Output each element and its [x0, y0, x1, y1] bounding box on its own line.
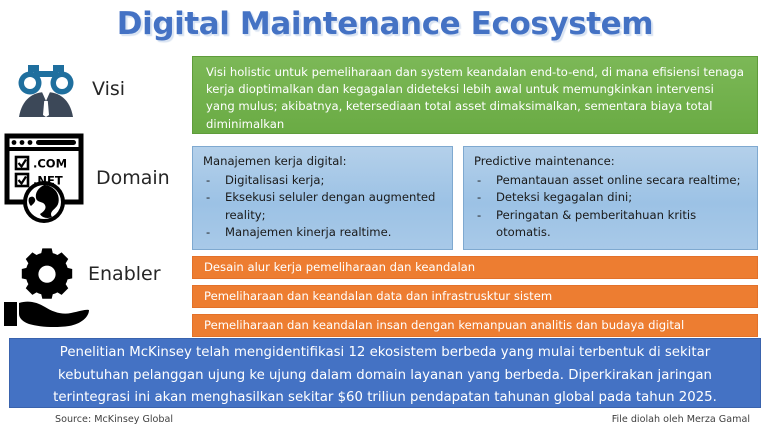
domain-heading: Manajemen kerja digital: — [203, 153, 444, 171]
domain-heading: Predictive maintenance: — [474, 153, 749, 171]
category-label-enabler: Enabler — [88, 263, 161, 285]
domain-box-predictive-maintenance: Predictive maintenance: Pemantauan asset… — [463, 146, 758, 250]
list-item: Manajemen kinerja realtime. — [203, 224, 444, 242]
category-label-domain: Domain — [96, 167, 170, 189]
category-row-domain: .COM .NET Domain — [0, 128, 190, 228]
enabler-bar: Desain alur kerja pemeliharaan dan keand… — [192, 256, 758, 279]
gear-in-hand-icon — [0, 240, 92, 332]
domain-item-list: Digitalisasi kerja; Eksekusi seluler den… — [203, 172, 444, 242]
category-row-visi: Visi — [0, 58, 190, 120]
svg-text:.COM: .COM — [33, 157, 67, 171]
list-item: Eksekusi seluler dengan augmented realit… — [203, 189, 444, 224]
credits-bar: Source: McKinsey Global File diolah oleh… — [0, 414, 770, 436]
category-label-visi: Visi — [92, 78, 125, 100]
author-credit: File diolah oleh Merza Gamal — [612, 414, 750, 425]
vision-box: Visi holistic untuk pemeliharaan dan sys… — [192, 56, 758, 134]
source-credit: Source: McKinsey Global — [55, 414, 173, 425]
enabler-bar: Pemeliharaan dan keandalan insan dengan … — [192, 314, 758, 337]
page-title: Digital Maintenance Ecosystem — [0, 6, 770, 42]
list-item: Deteksi kegagalan dini; — [474, 189, 749, 207]
vision-text: Visi holistic untuk pemeliharaan dan sys… — [206, 65, 744, 131]
category-row-enabler: Enabler — [0, 236, 190, 336]
footer-note: Penelitian McKinsey telah mengidentifika… — [9, 338, 761, 408]
browser-globe-domain-icon: .COM .NET — [0, 130, 92, 226]
domain-item-list: Pemantauan asset online secara realtime;… — [474, 172, 749, 242]
slide-canvas: Digital Maintenance Ecosystem — [0, 0, 770, 440]
list-item: Digitalisasi kerja; — [203, 172, 444, 190]
domain-box-digital-work-management: Manajemen kerja digital: Digitalisasi ke… — [192, 146, 453, 250]
enabler-bar: Pemeliharaan dan keandalan data dan infr… — [192, 285, 758, 308]
binoculars-businessman-icon — [0, 59, 92, 119]
list-item: Pemantauan asset online secara realtime; — [474, 172, 749, 190]
list-item: Peringatan & pemberitahuan kritis otomat… — [474, 207, 749, 242]
